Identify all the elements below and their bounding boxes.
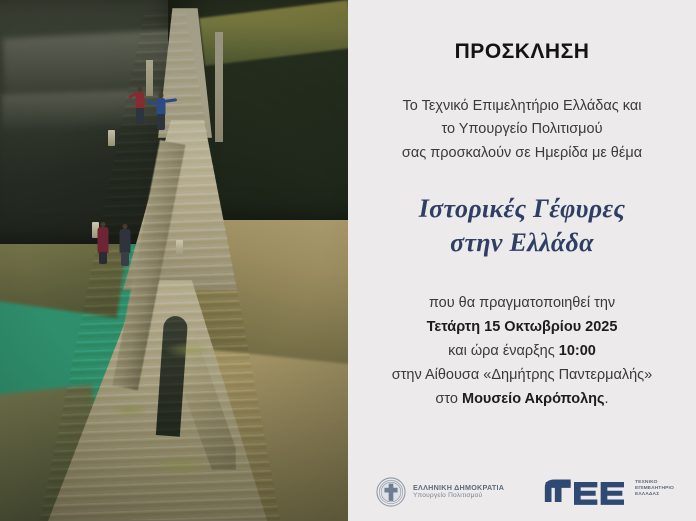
event-venue-value: Μουσείο Ακρόπολης: [462, 391, 605, 407]
event-time-value: 10:00: [559, 343, 596, 359]
footer-logos: ΕΛΛΗΝΙΚΗ ΔΗΜΟΚΡΑΤΙΑ Υπουργείο Πολιτισμού…: [348, 477, 696, 507]
event-date-value: Τετάρτη 15 Οκτωβρίου 2025: [427, 319, 618, 335]
bridge-photo: [0, 0, 348, 521]
person-torso: [97, 227, 108, 253]
person-torso: [119, 229, 130, 253]
organizers-block: Το Τεχνικό Επιμελητήριο Ελλάδας και το Υ…: [362, 95, 682, 165]
event-venue-suffix: .: [605, 391, 609, 407]
organizer-line-1: Το Τεχνικό Επιμελητήριο Ελλάδας και: [362, 95, 682, 118]
event-venue: στο Μουσείο Ακρόπολης.: [362, 387, 682, 411]
invitation-poster: ΠΡΟΣΚΛΗΣΗ Το Τεχνικό Επιμελητήριο Ελλάδα…: [0, 0, 696, 521]
event-title-line-1: Ιστορικές Γέφυρες: [362, 192, 682, 226]
event-title: Ιστορικές Γέφυρες στην Ελλάδα: [362, 192, 682, 260]
organizer-line-2: το Υπουργείο Πολιτισμού: [362, 118, 682, 141]
event-hall: στην Αίθουσα «Δημήτρης Παντερμαλής»: [362, 363, 682, 387]
person-torso: [136, 92, 145, 109]
details-intro: που θα πραγματοποιηθεί την: [362, 291, 682, 315]
person-in-dark-clothing: [118, 224, 131, 266]
page-title: ΠΡΟΣΚΛΗΣΗ: [362, 0, 682, 64]
person-legs: [99, 252, 107, 264]
person-in-red-jacket: [134, 87, 146, 127]
person-legs: [121, 252, 129, 266]
photo-stage: [0, 0, 348, 521]
tee-logo: ΤΕΧΝΙΚΟ ΕΠΙΜΕΛΗΤΗΡΙΟ ΕΛΛΑΔΑΣ: [544, 477, 674, 507]
tee-wordmark-icon: [544, 477, 632, 507]
stone-post-far: [215, 32, 223, 142]
stone-bollard: [108, 130, 115, 146]
stone-bollard: [176, 240, 183, 256]
event-venue-prefix: στο: [435, 391, 462, 407]
stone-post-left: [146, 60, 153, 96]
event-time-prefix: και ώρα έναρξης: [448, 343, 559, 359]
event-time: και ώρα έναρξης 10:00: [362, 339, 682, 363]
ministry-of-culture-subtitle: Υπουργείο Πολιτισμού: [413, 492, 504, 500]
event-date: Τετάρτη 15 Οκτωβρίου 2025: [362, 315, 682, 339]
tee-logo-text: ΤΕΧΝΙΚΟ ΕΠΙΜΕΛΗΤΗΡΙΟ ΕΛΛΑΔΑΣ: [635, 477, 674, 498]
person-in-blue-jacket: [154, 93, 168, 133]
person-legs: [157, 114, 165, 130]
greek-republic-emblem-icon: [376, 477, 406, 507]
invitation-text-panel: ΠΡΟΣΚΛΗΣΗ Το Τεχνικό Επιμελητήριο Ελλάδα…: [348, 0, 696, 521]
hellenic-republic-logo: ΕΛΛΗΝΙΚΗ ΔΗΜΟΚΡΑΤΙΑ Υπουργείο Πολιτισμού: [376, 477, 504, 507]
person-legs: [136, 108, 144, 124]
tee-line-3: ΕΛΛΑΔΑΣ: [635, 492, 674, 498]
event-details-block: που θα πραγματοποιηθεί την Τετάρτη 15 Οκ…: [362, 291, 682, 411]
organizer-line-3: σας προσκαλούν σε Ημερίδα με θέμα: [362, 142, 682, 165]
event-title-line-2: στην Ελλάδα: [362, 226, 682, 260]
person-in-maroon-coat: [96, 222, 109, 264]
hellenic-republic-logo-text: ΕΛΛΗΝΙΚΗ ΔΗΜΟΚΡΑΤΙΑ Υπουργείο Πολιτισμού: [413, 484, 504, 501]
